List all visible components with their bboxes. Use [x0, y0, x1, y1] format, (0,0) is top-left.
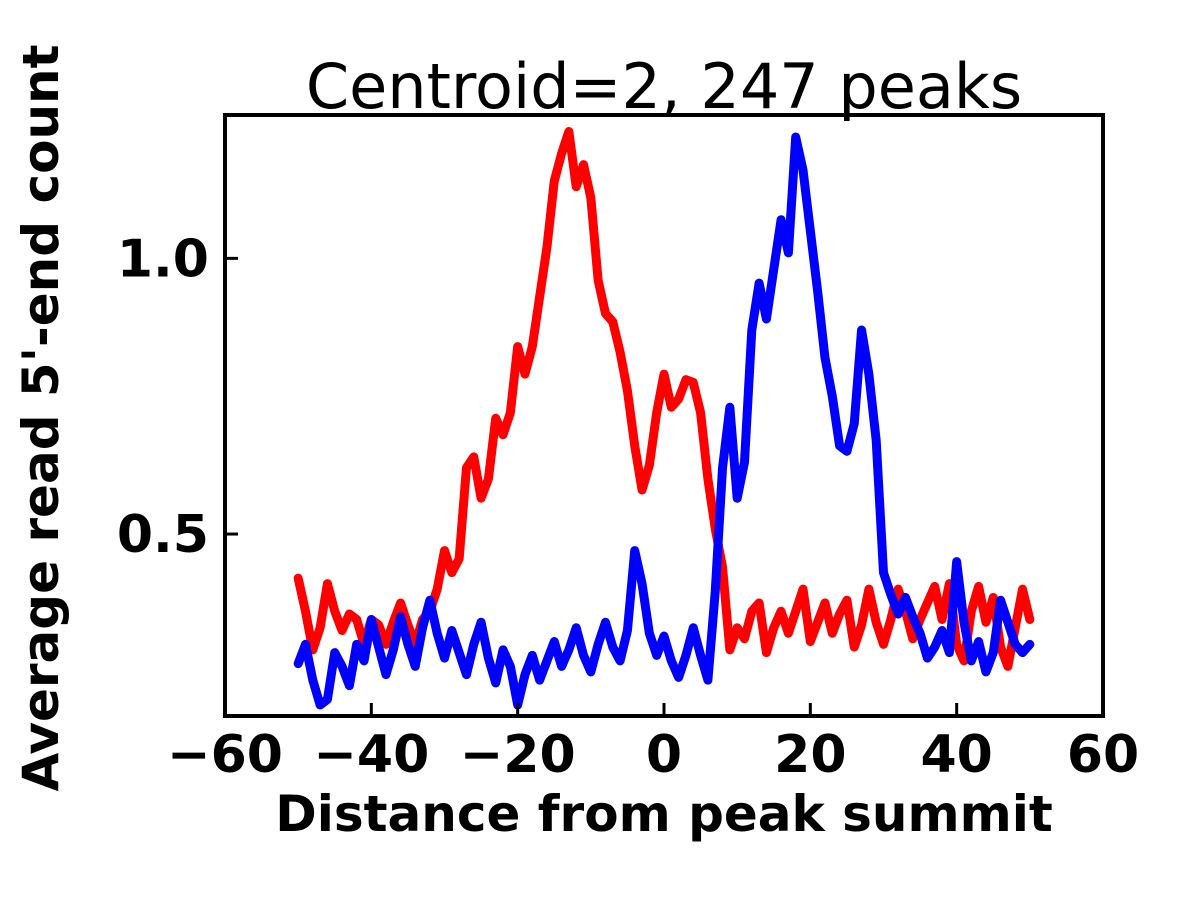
chart-canvas: −60−40−200204060 0.51.0 Centroid=2, 247 … [0, 0, 1200, 900]
x-tick-label: 0 [646, 725, 682, 785]
x-axis-title: Distance from peak summit [275, 785, 1053, 843]
x-tick-label: −20 [460, 725, 576, 785]
x-tick-label: −60 [167, 725, 283, 785]
x-tick-label: −40 [313, 725, 429, 785]
x-tick-label: 60 [1067, 725, 1139, 785]
y-tick-label: 0.5 [117, 505, 209, 565]
y-tick-label: 1.0 [117, 229, 209, 289]
y-axis-ticks: 0.51.0 [117, 229, 238, 565]
x-tick-label: 40 [920, 725, 992, 785]
x-tick-label: 20 [774, 725, 846, 785]
y-axis-title: Average read 5'-end count [12, 44, 70, 791]
chart-figure: −60−40−200204060 0.51.0 Centroid=2, 247 … [0, 0, 1200, 900]
chart-title: Centroid=2, 247 peaks [306, 50, 1022, 123]
